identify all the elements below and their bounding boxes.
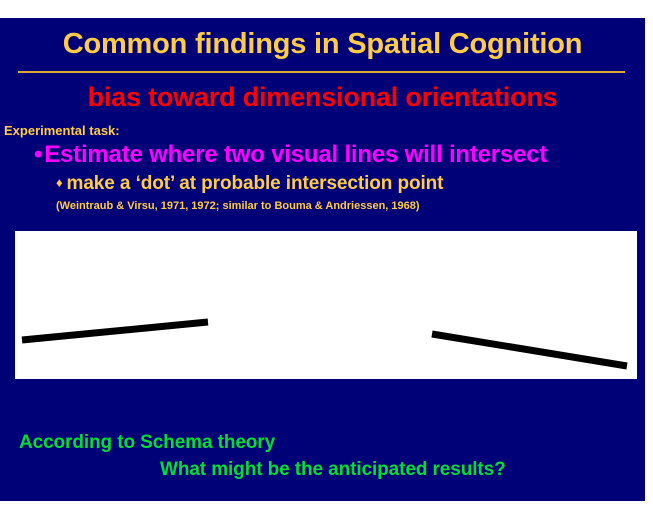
stimulus-panel [15,231,637,379]
title-divider [18,71,625,73]
citation-text: (Weintraub & Virsu, 1971, 1972; similar … [56,200,420,212]
footer-question-line-2: What might be the anticipated results? [160,459,506,481]
body-level2-bullet-item: • Estimate where two visual lines will i… [34,141,547,169]
stimulus-lines-graphic [15,231,637,379]
body-level3-text: make a ‘dot’ at probable intersection po… [67,173,444,195]
body-level1-text: Experimental task: [4,123,120,138]
body-level3-bullet-item: ♦ make a ‘dot’ at probable intersection … [56,173,443,195]
footer-question-line-1: According to Schema theory [19,432,275,454]
stimulus-left-line [22,322,208,340]
stimulus-right-line [432,334,627,366]
body-level2-text: Estimate where two visual lines will int… [44,141,547,169]
round-bullet-icon: • [34,143,42,167]
page-subtitle: bias toward dimensional orientations [10,81,635,113]
slide-canvas: Common findings in Spatial Cognition bia… [0,18,645,501]
diamond-bullet-icon: ♦ [56,175,63,190]
page-title: Common findings in Spatial Cognition [14,27,631,61]
